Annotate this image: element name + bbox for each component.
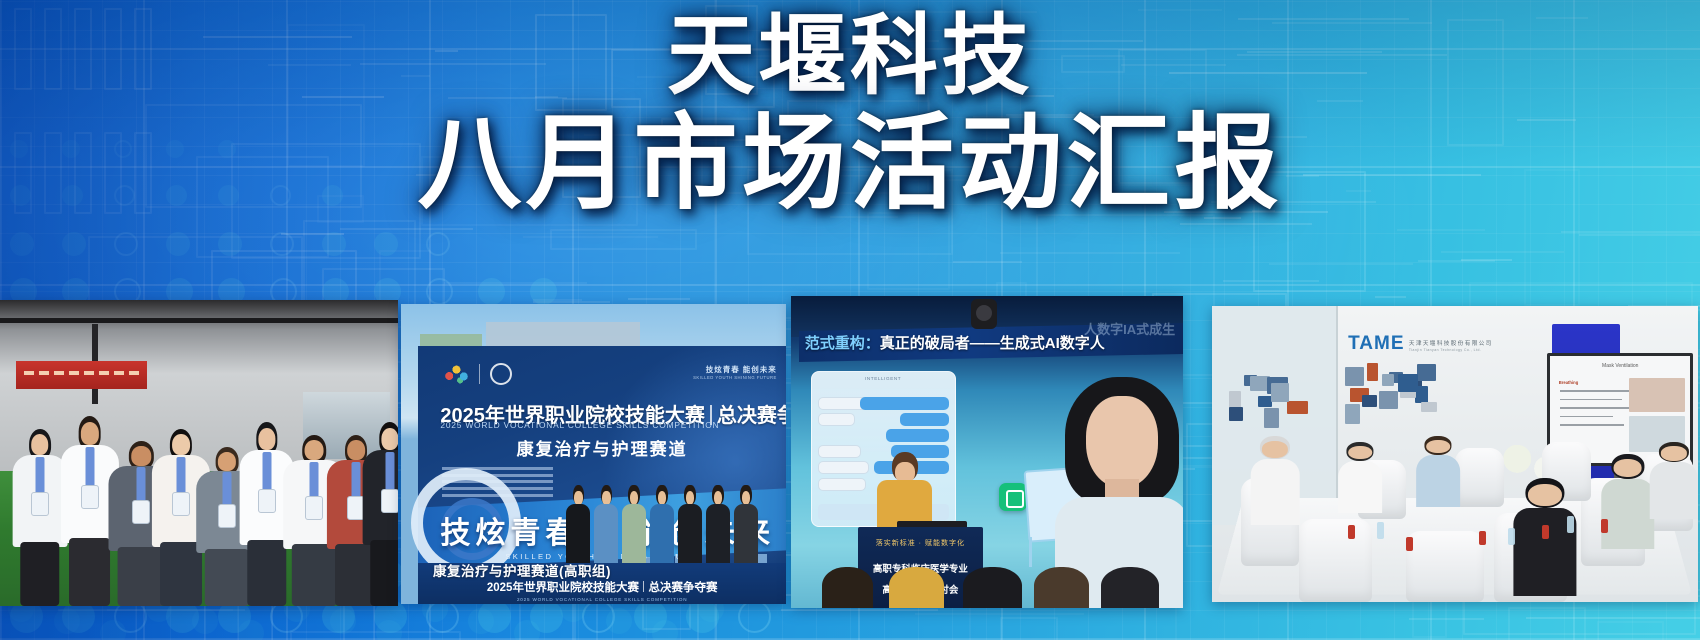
corner-badge-en: SKILLED YOUTH SHINING FUTURE: [693, 375, 777, 380]
water-bottle: [1377, 522, 1384, 539]
marketing-banner: 天堰科技 八月市场活动汇报: [0, 0, 1700, 640]
drink-can: [1601, 519, 1608, 533]
person-figure: [733, 485, 759, 562]
audience-head: [889, 567, 944, 608]
audience-head: [1101, 567, 1160, 608]
chat-bubble: [900, 413, 949, 426]
drink-can: [1348, 525, 1355, 539]
person-figure: [1251, 436, 1300, 525]
person-figure: [1338, 442, 1382, 513]
photo-strip: 2025年世界职业院校技能大赛总决赛争夺赛 2025 WORLD VOCATIO…: [0, 296, 1700, 608]
chat-bubble: [860, 397, 949, 410]
competition-emblem-icon: [444, 364, 470, 384]
banner-title: 天堰科技 八月市场活动汇报: [0, 12, 1700, 216]
water-bottle: [1567, 516, 1574, 533]
screen-headline-b: 真正的破局者——生成式AI数字人: [880, 335, 1105, 352]
drink-can: [1479, 531, 1486, 545]
organizer-seal-icon: [490, 363, 512, 385]
board-title-sep: 总决赛争夺赛: [717, 405, 786, 427]
chat-panel-label: INTELLIGENT: [812, 376, 955, 381]
person-figure: [565, 485, 591, 562]
board-corner-badge: 技炫青春 能创未来 SKILLED YOUTH SHINING FUTURE: [693, 364, 777, 380]
board-title-en: 2025 WORLD VOCATIONAL COLLEGE SKILLS COM…: [440, 420, 719, 430]
person-figure: [1601, 454, 1654, 549]
chat-bubble: [886, 429, 949, 442]
front-rail-text: 康复治疗与护理赛道(高职组): [433, 560, 611, 580]
office-chair: [1455, 448, 1504, 507]
bottom-accent-band: [0, 604, 1700, 640]
office-chair: [1299, 519, 1372, 602]
bottom-title-cn: 2025年世界职业院校技能大赛: [487, 582, 639, 594]
chat-bubble: [818, 461, 869, 474]
wall-logo-cn: 天津天堰科技股份有限公司: [1409, 339, 1493, 347]
bottom-title-sep: 总决赛争夺赛: [648, 582, 717, 594]
title-line-2: 八月市场活动汇报: [0, 112, 1700, 216]
person-figure: [1416, 436, 1460, 507]
app-icon: [999, 483, 1027, 511]
tv-slide-section: Breathing: [1559, 380, 1579, 385]
photo-wall-collage-left: [1227, 371, 1314, 430]
wall-logo: TAME: [1348, 333, 1404, 355]
office-chair: [1406, 531, 1484, 602]
photo-wall-collage: [1343, 359, 1460, 424]
drink-can: [1406, 537, 1413, 551]
person-figure: [677, 485, 703, 562]
person-figure: [358, 422, 398, 606]
photo-ai-digital-human-seminar: 人数字IA式成生 范式重构：真正的破局者——生成式AI数字人 INTELLIGE…: [791, 296, 1183, 608]
person-figure: [593, 485, 619, 562]
projector-icon: [971, 299, 997, 329]
chat-bubble: [818, 445, 861, 458]
podium-line-1: 落实新标准 · 赋能数字化: [858, 538, 983, 548]
photo-tame-meeting-room: TAME 天津天堰科技股份有限公司 Tianjin Tianyan Techno…: [1212, 306, 1698, 602]
audience-head: [963, 567, 1022, 608]
photo-skills-competition: 2025年世界职业院校技能大赛总决赛争夺赛 2025 WORLD VOCATIO…: [401, 304, 786, 604]
person-figure: [621, 485, 647, 562]
title-line-1: 天堰科技: [0, 12, 1700, 112]
person-figure: [649, 485, 675, 562]
slogan-left: 技炫青春: [440, 508, 580, 552]
corner-badge-cn: 技炫青春 能创未来: [693, 364, 777, 375]
audience-head: [822, 567, 873, 608]
person-figure: [705, 485, 731, 562]
wall-logo-en: Tianjin Tianyan Technology Co., Ltd.: [1409, 348, 1481, 352]
board-subtitle: 康复治疗与护理赛道: [418, 435, 786, 460]
person-figure: [1649, 442, 1698, 519]
audience-head: [1034, 567, 1089, 608]
drink-can: [1542, 525, 1549, 539]
screen-headline-a: 范式重构：: [805, 335, 880, 352]
chat-bubble: [818, 413, 855, 426]
chat-bubble: [818, 478, 867, 491]
bottom-title-en: 2025 WORLD VOCATIONAL COLLEGE SKILLS COM…: [418, 597, 786, 602]
photo-exhibition-visitors: [0, 300, 398, 606]
water-bottle: [1508, 528, 1515, 545]
tv-slide-title: Mask Ventilation: [1550, 363, 1690, 369]
